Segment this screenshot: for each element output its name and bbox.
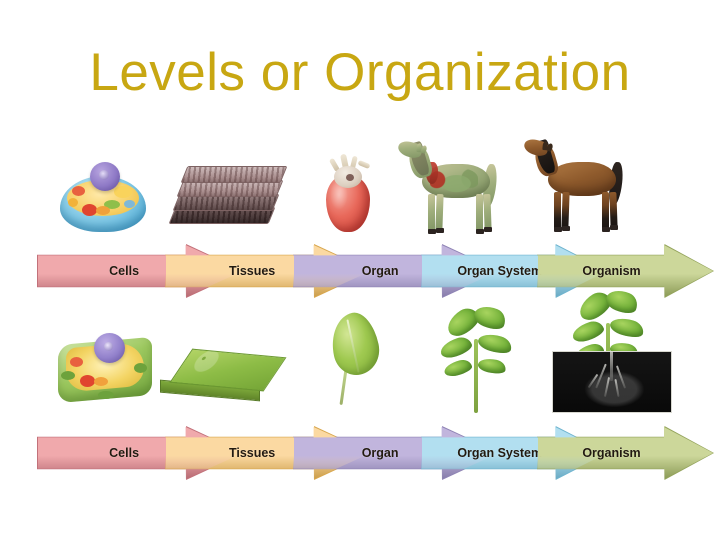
- vacuole: [98, 391, 114, 399]
- horse-leg: [483, 194, 491, 230]
- plant-arrow-band: Cells Tissues Organ Organ System Organis…: [38, 427, 693, 479]
- arrow-label: Organism: [582, 446, 640, 460]
- organelle: [68, 198, 78, 207]
- organelle: [72, 186, 85, 196]
- organelle: [96, 206, 110, 215]
- plant-leaf: [476, 331, 513, 357]
- heart-illustration: [320, 154, 380, 234]
- plant-stem: [474, 339, 478, 413]
- animal-cell-illustration: [60, 160, 146, 232]
- horse-leg: [554, 192, 561, 230]
- horse-organ-system-illustration: [396, 138, 508, 234]
- organelle: [124, 200, 135, 208]
- tissue-layer: [181, 166, 288, 183]
- plant-leaf: [477, 356, 507, 376]
- horse-leg: [428, 194, 435, 232]
- nucleus: [90, 162, 120, 191]
- horse-hoof: [610, 225, 618, 230]
- plant-leaf: [570, 318, 606, 344]
- page-title: Levels or Organization: [0, 42, 720, 103]
- plant-tissue-illustration: [178, 353, 290, 405]
- plant-leaf: [608, 315, 645, 341]
- vacuole: [134, 363, 147, 373]
- plant-leaf: [603, 286, 641, 317]
- arrow-label: Organ: [362, 446, 399, 460]
- arrow-label: Organism: [582, 264, 640, 278]
- leaf-blade: [326, 309, 384, 379]
- arrow-label: Tissues: [229, 446, 275, 460]
- nucleus: [94, 333, 125, 363]
- plant-cell-illustration: [58, 331, 152, 405]
- horse-leg: [602, 192, 609, 230]
- organelle: [80, 375, 95, 387]
- horse-hoof: [554, 227, 562, 232]
- horse-leg: [476, 194, 483, 232]
- horse-hoof: [602, 227, 610, 232]
- plant-root: [610, 351, 613, 381]
- slide-canvas: Levels or Organization: [0, 0, 720, 539]
- organelle: [70, 357, 83, 367]
- horse-leg: [435, 194, 443, 231]
- blood-vessel: [358, 160, 371, 169]
- horse-organism-illustration: [522, 136, 634, 232]
- nucleolus: [99, 170, 109, 180]
- arrow-label: Cells: [109, 264, 139, 278]
- plant-leaf: [438, 334, 474, 360]
- arrow-label: Organ System: [457, 446, 542, 460]
- horse-hoof: [562, 226, 570, 231]
- leaf-stem: [340, 369, 348, 405]
- plant-leaf: [471, 302, 509, 333]
- nucleolus: [104, 342, 113, 351]
- arrow-label: Tissues: [229, 264, 275, 278]
- organelle: [114, 186, 132, 198]
- heart-shadow: [346, 174, 354, 181]
- leaf-illustration: [322, 313, 392, 407]
- horse-hoof: [428, 229, 436, 234]
- animal-row: Cells Tissues Organ Organ System Organis…: [0, 140, 720, 310]
- horse-hoof: [484, 227, 492, 232]
- horse-leg: [609, 192, 617, 228]
- animal-tissue-illustration: [172, 166, 280, 228]
- plant-leaf: [443, 358, 474, 378]
- arrow-label: Organ System: [457, 264, 542, 278]
- arrow-label: Organ: [362, 264, 399, 278]
- vacuole: [61, 371, 75, 380]
- horse-leg: [561, 192, 569, 229]
- plant-row: Cells Tissues Organ Organ System Organis…: [0, 305, 720, 495]
- organelle: [82, 204, 97, 216]
- arrow-label: Cells: [109, 446, 139, 460]
- horse-hoof: [436, 228, 444, 233]
- plant-shoot-system-illustration: [428, 305, 524, 413]
- plant-organism-illustration: [552, 289, 676, 417]
- horse-hoof: [476, 229, 484, 234]
- organelle: [94, 377, 108, 386]
